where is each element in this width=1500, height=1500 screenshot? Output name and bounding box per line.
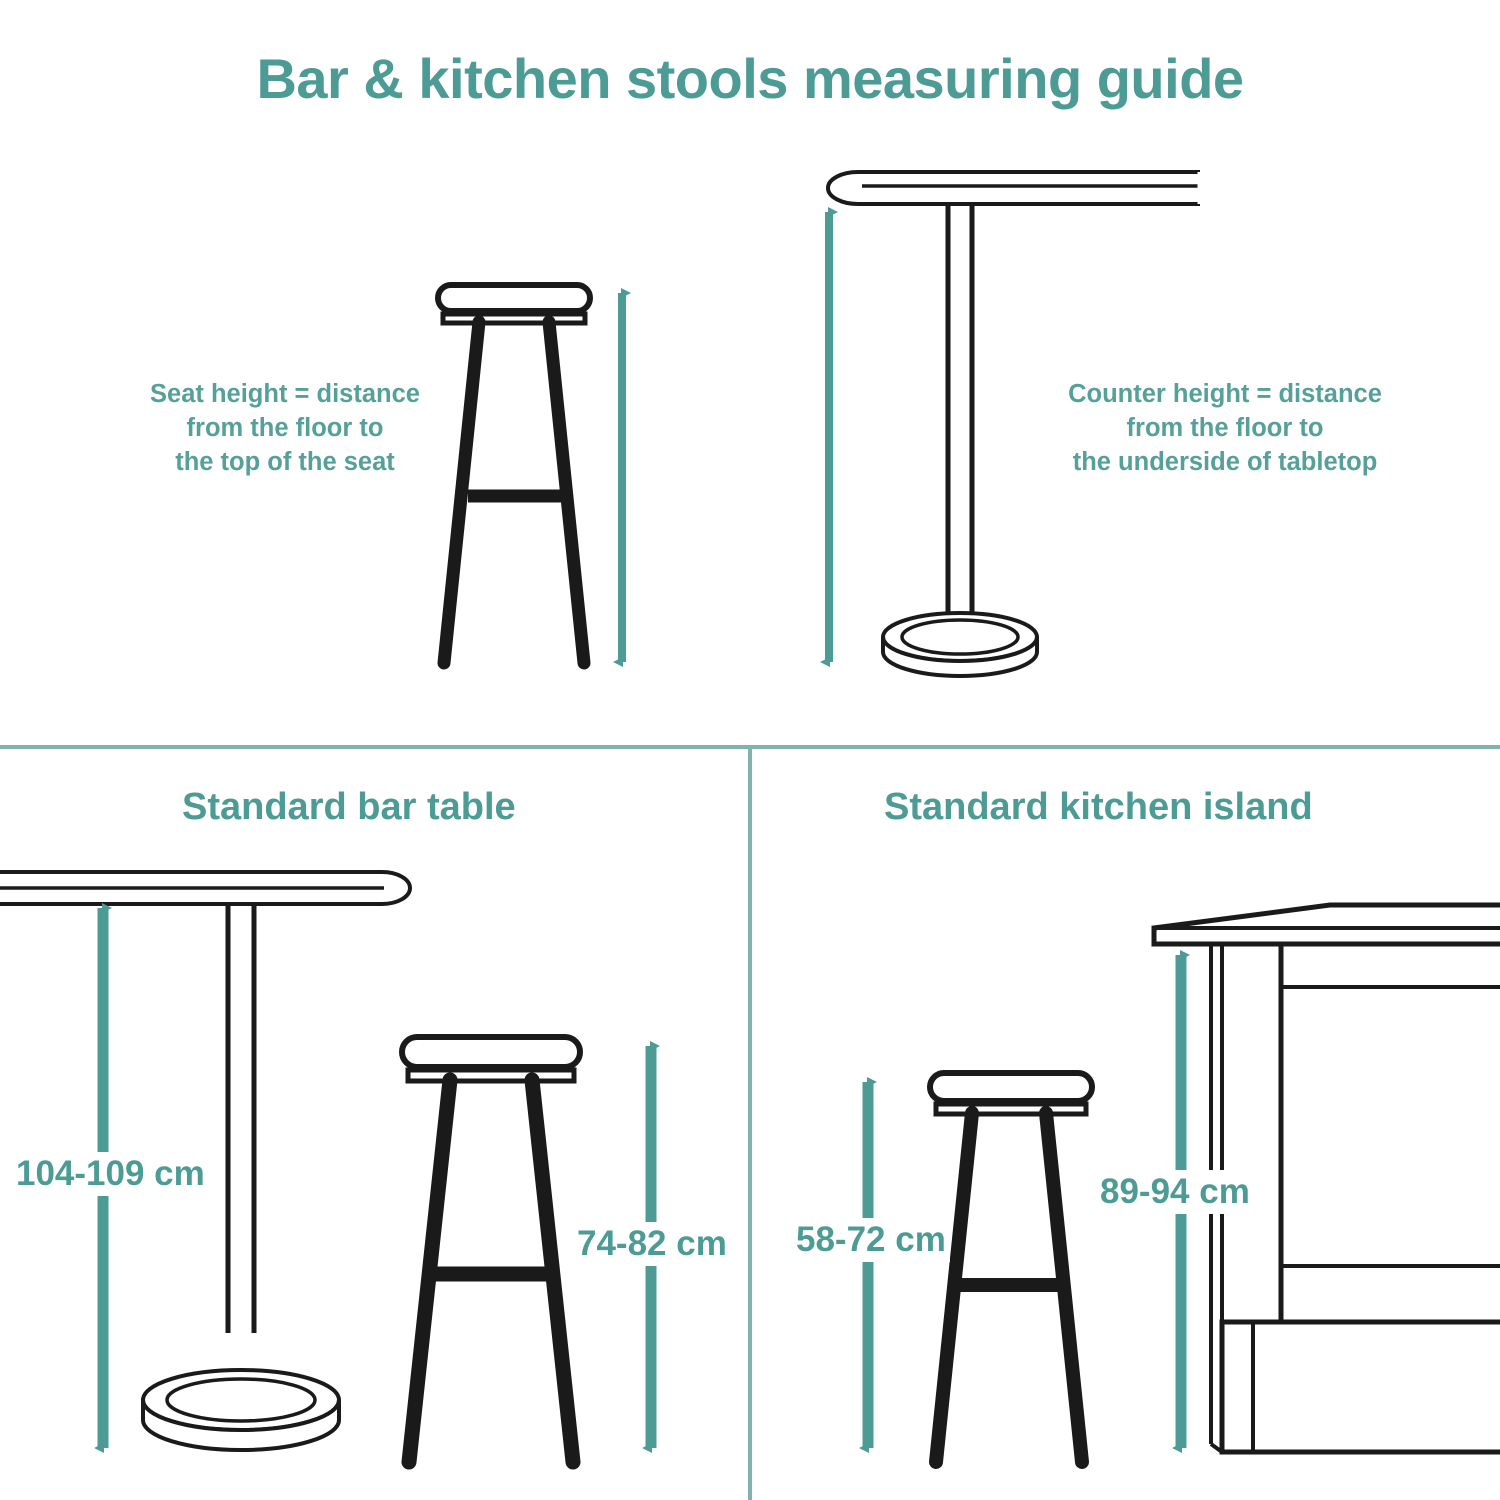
counter-height-caption-line2: from the floor to [1030,412,1420,446]
bar-stool-right-illustration [868,1073,1092,1462]
illustration-layer [0,0,1500,1500]
seat-height-caption-line1: Seat height = distance [110,378,460,412]
section-title-kitchen-island: Standard kitchen island [884,786,1313,829]
counter-height-caption: Counter height = distance from the floor… [1030,378,1420,480]
seat-height-caption-line2: from the floor to [110,412,460,446]
bar-stool-height-label: 74-82 cm [573,1222,731,1266]
bar-stool-top-illustration [438,285,622,663]
island-stool-height-label: 58-72 cm [792,1218,950,1262]
seat-height-caption-line3: the top of the seat [110,446,460,480]
section-title-bar-table: Standard bar table [182,786,516,829]
bar-table-height-label: 104-109 cm [12,1152,209,1196]
infographic-root: Bar & kitchen stools measuring guide [0,0,1500,1500]
counter-height-caption-line3: the underside of tabletop [1030,446,1420,480]
seat-height-caption: Seat height = distance from the floor to… [110,378,460,480]
counter-height-caption-line1: Counter height = distance [1030,378,1420,412]
island-height-label: 89-94 cm [1096,1170,1254,1214]
